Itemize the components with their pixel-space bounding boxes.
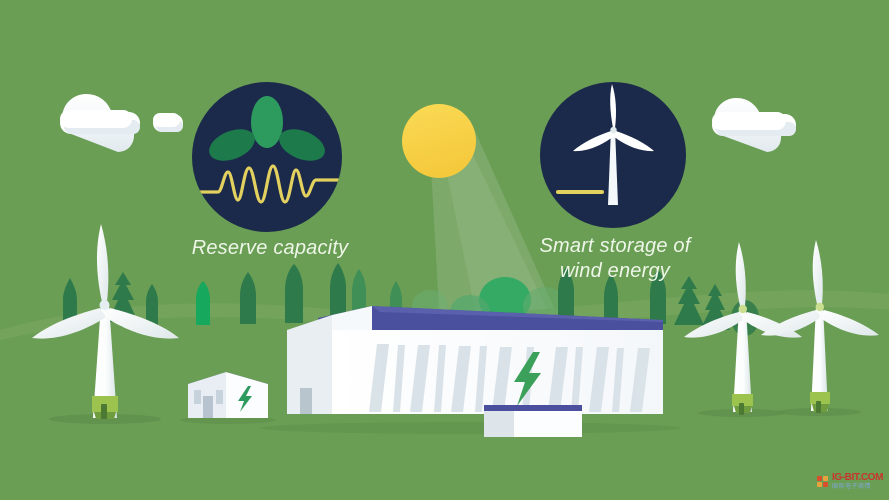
leaf-center-icon <box>251 96 283 148</box>
watermark-subtitle: 国际电子商情 <box>832 484 883 490</box>
scene-svg <box>0 0 889 500</box>
watermark-brand: IG-BIT.COM <box>832 473 883 483</box>
sun-icon <box>402 104 476 178</box>
cloud-small-left <box>153 113 183 132</box>
underline-bar <box>556 190 604 194</box>
utility-shed <box>484 405 582 437</box>
illustration-canvas: Reserve capacity Smart storage of wind e… <box>0 0 889 500</box>
watermark: IG-BIT.COM 国际电子商情 <box>816 469 886 493</box>
logo-squares-icon <box>816 473 830 489</box>
reserve-capacity-icon-circle[interactable] <box>192 82 342 232</box>
smart-storage-icon-circle[interactable] <box>540 82 686 228</box>
